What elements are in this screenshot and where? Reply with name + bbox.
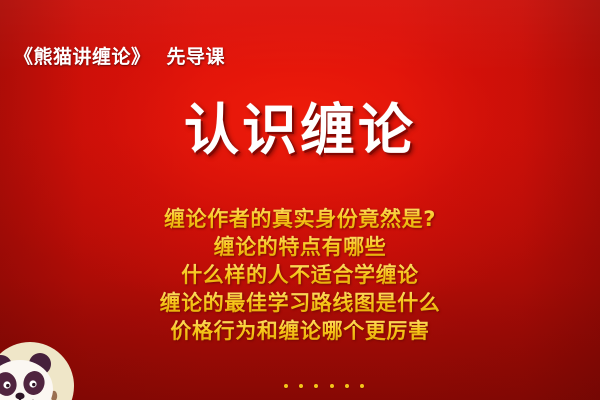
topic-line: 缠论作者的真实身份竟然是? (0, 205, 600, 233)
ellipsis-dot (284, 384, 288, 388)
topic-list: 缠论作者的真实身份竟然是? 缠论的特点有哪些 什么样的人不适合学缠论 缠论的最佳… (0, 205, 600, 345)
panda-logo-icon (0, 340, 76, 400)
ellipsis-dot (345, 384, 349, 388)
presentation-slide: 《熊猫讲缠论》先导课 认识缠论 缠论作者的真实身份竟然是? 缠论的特点有哪些 什… (0, 0, 600, 400)
lesson-label: 先导课 (167, 46, 226, 68)
topic-line: 价格行为和缠论哪个更厉害 (0, 317, 600, 345)
ellipsis-dot (360, 384, 364, 388)
ellipsis-dots (0, 373, 600, 392)
topic-line: 缠论的特点有哪些 (0, 233, 600, 261)
ellipsis-dot (330, 384, 334, 388)
ellipsis-dot (299, 384, 303, 388)
slide-title: 认识缠论 (0, 99, 600, 161)
ellipsis-dot (314, 384, 318, 388)
topic-line: 缠论的最佳学习路线图是什么 (0, 289, 600, 317)
topic-line: 什么样的人不适合学缠论 (0, 261, 600, 289)
series-title: 《熊猫讲缠论》 (14, 46, 151, 68)
slide-header: 《熊猫讲缠论》先导课 (14, 42, 225, 69)
